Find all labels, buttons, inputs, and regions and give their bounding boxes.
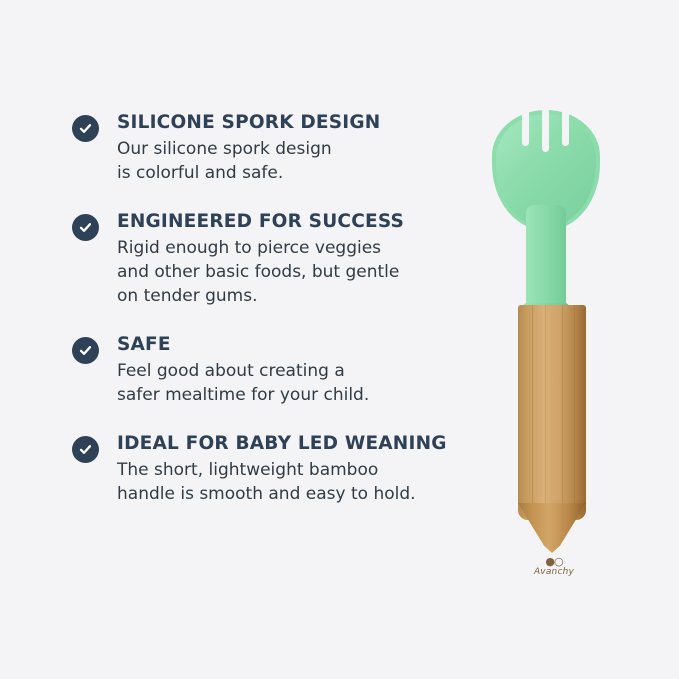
bamboo-handle-body bbox=[518, 305, 586, 520]
feature-body-line: handle is smooth and easy to hold. bbox=[117, 482, 472, 506]
feature-item-safe: SAFE Feel good about creating a safer me… bbox=[72, 334, 472, 407]
feature-title: IDEAL FOR BABY LED WEANING bbox=[117, 433, 472, 455]
feature-body: Rigid enough to pierce veggies and other… bbox=[117, 236, 472, 308]
feature-body-line: Feel good about creating a bbox=[117, 359, 472, 383]
feature-body-line: is colorful and safe. bbox=[117, 161, 472, 185]
feature-body-line: on tender gums. bbox=[117, 284, 472, 308]
product-image-spork: ●○ Avanchy bbox=[470, 100, 630, 570]
check-circle-icon bbox=[72, 115, 99, 142]
check-circle-icon bbox=[72, 436, 99, 463]
feature-body-line: safer mealtime for your child. bbox=[117, 383, 472, 407]
bamboo-handle: ●○ Avanchy bbox=[518, 305, 586, 550]
bamboo-handle-tip bbox=[518, 503, 586, 553]
brand-logo: ●○ Avanchy bbox=[528, 557, 580, 577]
feature-body: Our silicone spork design is colorful an… bbox=[117, 137, 472, 185]
feature-body-line: Rigid enough to pierce veggies bbox=[117, 236, 472, 260]
feature-list: SILICONE SPORK DESIGN Our silicone spork… bbox=[72, 112, 472, 532]
brand-mark-icon: ●○ bbox=[528, 557, 580, 567]
feature-item-ideal-for-baby-led-weaning: IDEAL FOR BABY LED WEANING The short, li… bbox=[72, 433, 472, 506]
feature-body-line: and other basic foods, but gentle bbox=[117, 260, 472, 284]
spork-tine-slot bbox=[542, 108, 549, 152]
spork-tine-slot bbox=[522, 108, 529, 146]
wood-grain-line bbox=[562, 305, 563, 515]
spork-neck bbox=[526, 205, 566, 315]
check-circle-icon bbox=[72, 337, 99, 364]
feature-title: ENGINEERED FOR SUCCESS bbox=[117, 211, 472, 233]
feature-title: SILICONE SPORK DESIGN bbox=[117, 112, 472, 134]
spork-tine-slot bbox=[562, 108, 569, 146]
brand-logo-text: Avanchy bbox=[528, 567, 580, 577]
wood-grain-line bbox=[545, 305, 546, 515]
check-circle-icon bbox=[72, 214, 99, 241]
feature-item-silicone-spork-design: SILICONE SPORK DESIGN Our silicone spork… bbox=[72, 112, 472, 185]
feature-body-line: The short, lightweight bamboo bbox=[117, 458, 472, 482]
feature-item-engineered-for-success: ENGINEERED FOR SUCCESS Rigid enough to p… bbox=[72, 211, 472, 308]
feature-title: SAFE bbox=[117, 334, 472, 356]
feature-body-line: Our silicone spork design bbox=[117, 137, 472, 161]
feature-body: Feel good about creating a safer mealtim… bbox=[117, 359, 472, 407]
product-feature-image: SILICONE SPORK DESIGN Our silicone spork… bbox=[0, 0, 679, 679]
feature-body: The short, lightweight bamboo handle is … bbox=[117, 458, 472, 506]
wood-grain-line bbox=[532, 305, 533, 515]
spork-silicone-head bbox=[492, 110, 600, 310]
wood-grain-line bbox=[574, 305, 575, 515]
